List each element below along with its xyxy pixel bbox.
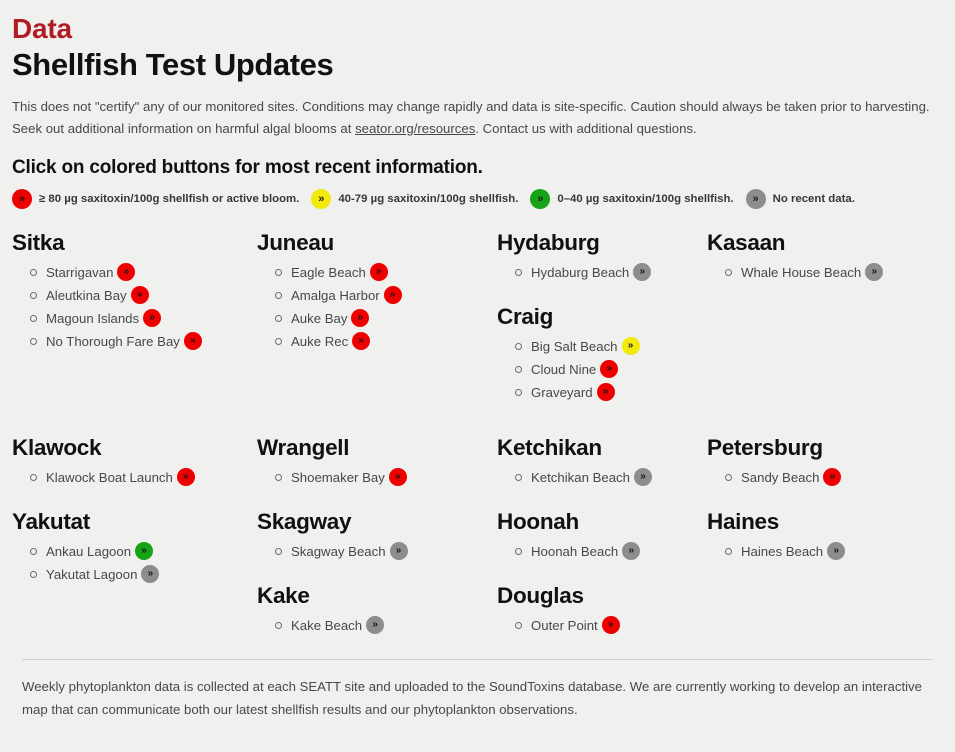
grid-column-1: KlawockKlawock Boat Launch»YakutatAnkau …	[12, 434, 257, 639]
list-item: Auke Rec»	[257, 332, 497, 350]
site-status-button-green[interactable]: »	[135, 542, 153, 560]
site-list: Big Salt Beach»Cloud Nine»Graveyard»	[497, 337, 707, 401]
chevron-double-right-icon: »	[148, 569, 154, 579]
footer-note: Weekly phytoplankton data is collected a…	[22, 676, 933, 721]
grid-column-4: PetersburgSandy Beach»HainesHaines Beach…	[707, 434, 955, 639]
site-name: Hydaburg Beach	[531, 266, 629, 279]
list-item: Hydaburg Beach»	[497, 263, 707, 281]
site-list: Shoemaker Bay»	[257, 468, 497, 486]
location-group-kake: KakeKake Beach»	[257, 582, 497, 634]
site-name: Graveyard	[531, 386, 593, 399]
site-status-button-red[interactable]: »	[352, 332, 370, 350]
site-list: Sandy Beach»	[707, 468, 955, 486]
chevron-double-right-icon: »	[183, 472, 189, 482]
site-status-button-red[interactable]: »	[602, 616, 620, 634]
site-status-button-red[interactable]: »	[184, 332, 202, 350]
page-kicker: Data	[12, 14, 945, 45]
bullet-icon	[275, 292, 282, 299]
site-status-button-red[interactable]: »	[600, 360, 618, 378]
site-list: Hydaburg Beach»	[497, 263, 707, 281]
site-list: Ketchikan Beach»	[497, 468, 707, 486]
site-name: Hoonah Beach	[531, 545, 618, 558]
site-status-button-gray[interactable]: »	[622, 542, 640, 560]
location-group-title: Juneau	[257, 229, 497, 256]
location-group-petersburg: PetersburgSandy Beach»	[707, 434, 955, 486]
site-name: No Thorough Fare Bay	[46, 335, 180, 348]
page-title: Shellfish Test Updates	[12, 47, 945, 83]
site-status-button-red[interactable]: »	[117, 263, 135, 281]
legend-label: 40-79 µg saxitoxin/100g shellfish.	[338, 193, 518, 205]
list-item: Graveyard»	[497, 383, 707, 401]
site-name: Cloud Nine	[531, 363, 596, 376]
location-group-juneau: JuneauEagle Beach»Amalga Harbor»Auke Bay…	[257, 229, 497, 350]
bullet-icon	[30, 338, 37, 345]
list-item: Whale House Beach»	[707, 263, 955, 281]
chevron-double-right-icon: »	[372, 620, 378, 630]
bullet-icon	[515, 269, 522, 276]
site-name: Whale House Beach	[741, 266, 861, 279]
bullet-icon	[515, 343, 522, 350]
chevron-double-right-icon: »	[606, 364, 612, 374]
bullet-icon	[275, 315, 282, 322]
location-group-wrangell: WrangellShoemaker Bay»	[257, 434, 497, 486]
grid-column-1: SitkaStarrigavan»Aleutkina Bay»Magoun Is…	[12, 229, 257, 406]
chevron-double-right-icon: »	[124, 267, 130, 277]
chevron-double-right-icon: »	[358, 313, 364, 323]
chevron-double-right-icon: »	[318, 194, 324, 205]
location-group-klawock: KlawockKlawock Boat Launch»	[12, 434, 257, 486]
site-name: Starrigavan	[46, 266, 113, 279]
location-group-ketchikan: KetchikanKetchikan Beach»	[497, 434, 707, 486]
legend-label: ≥ 80 µg saxitoxin/100g shellfish or acti…	[39, 193, 299, 205]
location-group-title: Petersburg	[707, 434, 955, 461]
bullet-icon	[30, 269, 37, 276]
site-name: Haines Beach	[741, 545, 823, 558]
list-item: Skagway Beach»	[257, 542, 497, 560]
location-group-haines: HainesHaines Beach»	[707, 508, 955, 560]
chevron-double-right-icon: »	[603, 387, 609, 397]
site-list: Hoonah Beach»	[497, 542, 707, 560]
location-group-title: Wrangell	[257, 434, 497, 461]
list-item: Auke Bay»	[257, 309, 497, 327]
bullet-icon	[515, 366, 522, 373]
chevron-double-right-icon: »	[137, 290, 143, 300]
site-status-button-gray[interactable]: »	[366, 616, 384, 634]
chevron-double-right-icon: »	[753, 194, 759, 205]
location-group-hydaburg: HydaburgHydaburg Beach»	[497, 229, 707, 281]
legend-label: No recent data.	[773, 193, 855, 205]
grid-column-2: WrangellShoemaker Bay»SkagwaySkagway Bea…	[257, 434, 497, 639]
site-name: Kake Beach	[291, 619, 362, 632]
chevron-double-right-icon: »	[537, 194, 543, 205]
chevron-double-right-icon: »	[358, 336, 364, 346]
chevron-double-right-icon: »	[639, 267, 645, 277]
bullet-icon	[515, 548, 522, 555]
chevron-double-right-icon: »	[395, 472, 401, 482]
legend-item-red: »≥ 80 µg saxitoxin/100g shellfish or act…	[12, 189, 299, 209]
site-status-button-gray[interactable]: »	[633, 263, 651, 281]
site-name: Yakutat Lagoon	[46, 568, 137, 581]
site-status-button-red[interactable]: »	[143, 309, 161, 327]
list-item: Amalga Harbor»	[257, 286, 497, 304]
locations-grid-row-2: KlawockKlawock Boat Launch»YakutatAnkau …	[12, 434, 945, 639]
site-status-button-gray[interactable]: »	[634, 468, 652, 486]
location-group-title: Kasaan	[707, 229, 955, 256]
grid-column-3: KetchikanKetchikan Beach»HoonahHoonah Be…	[497, 434, 707, 639]
page-root: Data Shellfish Test Updates This does no…	[0, 0, 955, 722]
site-name: Klawock Boat Launch	[46, 471, 173, 484]
site-list: Eagle Beach»Amalga Harbor»Auke Bay»Auke …	[257, 263, 497, 350]
list-item: Outer Point»	[497, 616, 707, 634]
chevron-double-right-icon: »	[871, 267, 877, 277]
bullet-icon	[515, 389, 522, 396]
legend-callout-heading: Click on colored buttons for most recent…	[12, 157, 945, 179]
location-group-hoonah: HoonahHoonah Beach»	[497, 508, 707, 560]
bullet-icon	[30, 315, 37, 322]
site-status-button-red[interactable]: »	[370, 263, 388, 281]
list-item: Ankau Lagoon»	[12, 542, 257, 560]
bullet-icon	[275, 269, 282, 276]
site-list: Starrigavan»Aleutkina Bay»Magoun Islands…	[12, 263, 257, 350]
legend-item-gray: »No recent data.	[746, 189, 855, 209]
grid-column-4: KasaanWhale House Beach»	[707, 229, 955, 406]
chevron-double-right-icon: »	[19, 194, 25, 205]
site-list: Whale House Beach»	[707, 263, 955, 281]
list-item: Aleutkina Bay»	[12, 286, 257, 304]
list-item: Kake Beach»	[257, 616, 497, 634]
locations-grid-row-1: SitkaStarrigavan»Aleutkina Bay»Magoun Is…	[12, 229, 945, 406]
site-name: Auke Rec	[291, 335, 348, 348]
site-list: Klawock Boat Launch»	[12, 468, 257, 486]
list-item: Big Salt Beach»	[497, 337, 707, 355]
location-group-title: Douglas	[497, 582, 707, 609]
bullet-icon	[275, 622, 282, 629]
legend-badge-yellow[interactable]: »	[311, 189, 331, 209]
site-status-button-red[interactable]: »	[177, 468, 195, 486]
site-name: Aleutkina Bay	[46, 289, 127, 302]
legend-item-yellow: »40-79 µg saxitoxin/100g shellfish.	[311, 189, 518, 209]
location-group-title: Hoonah	[497, 508, 707, 535]
grid-column-2: JuneauEagle Beach»Amalga Harbor»Auke Bay…	[257, 229, 497, 406]
list-item: Shoemaker Bay»	[257, 468, 497, 486]
site-name: Sandy Beach	[741, 471, 819, 484]
footer-divider	[22, 659, 933, 660]
site-name: Shoemaker Bay	[291, 471, 385, 484]
bullet-icon	[30, 292, 37, 299]
list-item: Magoun Islands»	[12, 309, 257, 327]
location-group-title: Klawock	[12, 434, 257, 461]
seator-resources-link[interactable]: seator.org/resources	[355, 121, 475, 136]
intro-text-after-link: . Contact us with additional questions.	[475, 121, 696, 136]
bullet-icon	[725, 474, 732, 481]
chevron-double-right-icon: »	[640, 472, 646, 482]
bullet-icon	[515, 474, 522, 481]
site-name: Ankau Lagoon	[46, 545, 131, 558]
site-status-button-red[interactable]: »	[597, 383, 615, 401]
list-item: Sandy Beach»	[707, 468, 955, 486]
chevron-double-right-icon: »	[628, 341, 634, 351]
chevron-double-right-icon: »	[141, 546, 147, 556]
site-status-button-gray[interactable]: »	[390, 542, 408, 560]
site-status-button-red[interactable]: »	[384, 286, 402, 304]
location-group-kasaan: KasaanWhale House Beach»	[707, 229, 955, 281]
site-status-button-gray[interactable]: »	[827, 542, 845, 560]
list-item: Klawock Boat Launch»	[12, 468, 257, 486]
site-status-button-gray[interactable]: »	[865, 263, 883, 281]
legend-badge-red[interactable]: »	[12, 189, 32, 209]
site-status-button-yellow[interactable]: »	[622, 337, 640, 355]
chevron-double-right-icon: »	[830, 472, 836, 482]
site-name: Eagle Beach	[291, 266, 366, 279]
list-item: Eagle Beach»	[257, 263, 497, 281]
location-group-title: Sitka	[12, 229, 257, 256]
site-status-button-red[interactable]: »	[823, 468, 841, 486]
chevron-double-right-icon: »	[628, 546, 634, 556]
list-item: Yakutat Lagoon»	[12, 565, 257, 583]
location-group-title: Kake	[257, 582, 497, 609]
location-group-title: Craig	[497, 303, 707, 330]
site-name: Skagway Beach	[291, 545, 386, 558]
list-item: Cloud Nine»	[497, 360, 707, 378]
site-name: Ketchikan Beach	[531, 471, 630, 484]
location-group-skagway: SkagwaySkagway Beach»	[257, 508, 497, 560]
chevron-double-right-icon: »	[190, 336, 196, 346]
intro-paragraph: This does not "certify" any of our monit…	[12, 96, 943, 139]
location-group-title: Skagway	[257, 508, 497, 535]
location-group-sitka: SitkaStarrigavan»Aleutkina Bay»Magoun Is…	[12, 229, 257, 350]
location-group-title: Haines	[707, 508, 955, 535]
legend: »≥ 80 µg saxitoxin/100g shellfish or act…	[12, 189, 945, 209]
location-group-title: Hydaburg	[497, 229, 707, 256]
chevron-double-right-icon: »	[608, 620, 614, 630]
location-group-title: Ketchikan	[497, 434, 707, 461]
chevron-double-right-icon: »	[149, 313, 155, 323]
location-group-craig: CraigBig Salt Beach»Cloud Nine»Graveyard…	[497, 303, 707, 401]
list-item: No Thorough Fare Bay»	[12, 332, 257, 350]
grid-column-3: HydaburgHydaburg Beach»CraigBig Salt Bea…	[497, 229, 707, 406]
location-group-title: Yakutat	[12, 508, 257, 535]
site-status-button-gray[interactable]: »	[141, 565, 159, 583]
site-name: Magoun Islands	[46, 312, 139, 325]
site-name: Amalga Harbor	[291, 289, 380, 302]
chevron-double-right-icon: »	[396, 546, 402, 556]
list-item: Hoonah Beach»	[497, 542, 707, 560]
list-item: Haines Beach»	[707, 542, 955, 560]
bullet-icon	[275, 548, 282, 555]
location-group-yakutat: YakutatAnkau Lagoon»Yakutat Lagoon»	[12, 508, 257, 583]
bullet-icon	[30, 474, 37, 481]
site-name: Outer Point	[531, 619, 598, 632]
bullet-icon	[275, 338, 282, 345]
chevron-double-right-icon: »	[376, 267, 382, 277]
site-name: Big Salt Beach	[531, 340, 618, 353]
legend-item-green: »0–40 µg saxitoxin/100g shellfish.	[530, 189, 733, 209]
site-list: Outer Point»	[497, 616, 707, 634]
legend-badge-green[interactable]: »	[530, 189, 550, 209]
site-status-button-red[interactable]: »	[389, 468, 407, 486]
bullet-icon	[30, 548, 37, 555]
chevron-double-right-icon: »	[390, 290, 396, 300]
legend-label: 0–40 µg saxitoxin/100g shellfish.	[557, 193, 733, 205]
bullet-icon	[515, 622, 522, 629]
bullet-icon	[30, 571, 37, 578]
bullet-icon	[725, 269, 732, 276]
legend-badge-gray[interactable]: »	[746, 189, 766, 209]
location-group-douglas: DouglasOuter Point»	[497, 582, 707, 634]
list-item: Ketchikan Beach»	[497, 468, 707, 486]
site-name: Auke Bay	[291, 312, 347, 325]
bullet-icon	[275, 474, 282, 481]
site-list: Ankau Lagoon»Yakutat Lagoon»	[12, 542, 257, 583]
list-item: Starrigavan»	[12, 263, 257, 281]
site-list: Haines Beach»	[707, 542, 955, 560]
site-list: Skagway Beach»	[257, 542, 497, 560]
bullet-icon	[725, 548, 732, 555]
site-status-button-red[interactable]: »	[351, 309, 369, 327]
site-status-button-red[interactable]: »	[131, 286, 149, 304]
chevron-double-right-icon: »	[833, 546, 839, 556]
site-list: Kake Beach»	[257, 616, 497, 634]
